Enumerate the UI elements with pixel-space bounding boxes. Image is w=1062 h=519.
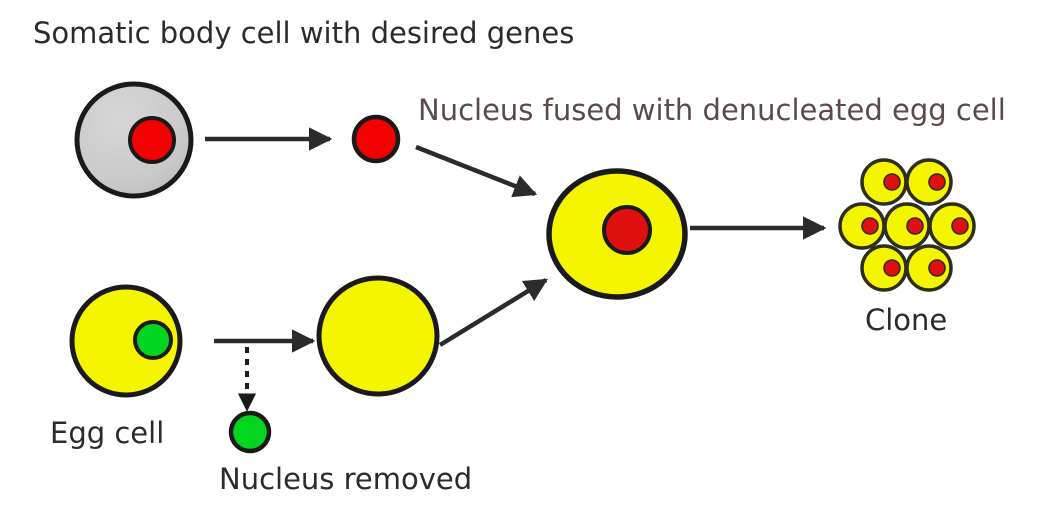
clone-cell-nucleus bbox=[929, 174, 945, 190]
clone-label: Clone bbox=[865, 303, 947, 337]
denucleated-egg-cell bbox=[319, 278, 437, 394]
diagram-canvas: Somatic body cell with desired genes Nuc… bbox=[0, 0, 1062, 519]
somatic-body-cell-group bbox=[77, 84, 191, 196]
clone-cell-nucleus bbox=[862, 218, 878, 234]
arrow-denucleated-to-fused bbox=[440, 280, 546, 345]
clone-cell-nucleus bbox=[929, 260, 945, 276]
cloning-process-diagram: Somatic body cell with desired genes Nuc… bbox=[0, 0, 1062, 519]
arrow-nucleus-to-fused bbox=[416, 147, 535, 194]
clone-cell bbox=[862, 160, 906, 204]
egg-cell-label: Egg cell bbox=[50, 416, 164, 450]
clone-cell bbox=[885, 204, 929, 248]
clone-cell-nucleus bbox=[907, 218, 923, 234]
somatic-cell-nucleus bbox=[130, 118, 174, 162]
nucleus-removed-label: Nucleus removed bbox=[219, 462, 472, 496]
egg-cell-group bbox=[72, 287, 180, 395]
nucleus-fused-label: Nucleus fused with denucleated egg cell bbox=[418, 93, 1006, 127]
extracted-nucleus bbox=[354, 117, 398, 161]
fused-cell-nucleus bbox=[604, 207, 650, 253]
clone-cell bbox=[862, 246, 906, 290]
clone-cell-nucleus bbox=[884, 260, 900, 276]
clone-cell-cluster bbox=[840, 160, 974, 290]
removed-nucleus bbox=[231, 413, 269, 451]
fused-cell-group bbox=[549, 171, 685, 297]
clone-cell-nucleus bbox=[884, 174, 900, 190]
clone-cell bbox=[907, 160, 951, 204]
clone-cell-nucleus bbox=[952, 218, 968, 234]
egg-cell-nucleus bbox=[135, 322, 171, 358]
clone-cell bbox=[840, 204, 884, 248]
clone-cell bbox=[907, 246, 951, 290]
somatic-cell-title-label: Somatic body cell with desired genes bbox=[33, 16, 574, 50]
clone-cell bbox=[930, 204, 974, 248]
